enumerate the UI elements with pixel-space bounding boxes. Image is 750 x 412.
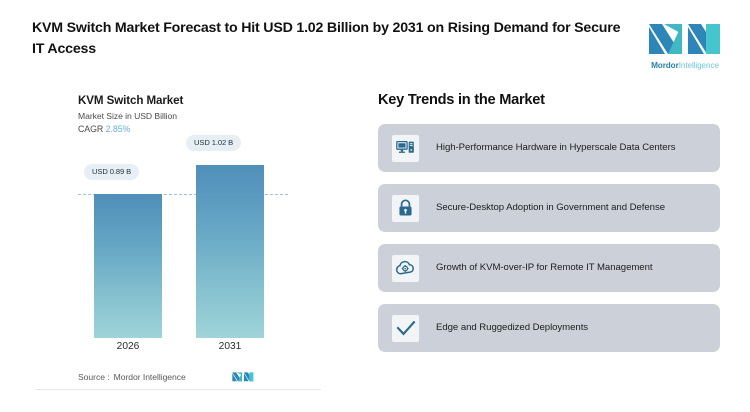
cagr-value: 2.85% [106,124,131,134]
chart-subtitle: Market Size in USD Billion [78,111,321,121]
trend-item-hardware[interactable]: High-Performance Hardware in Hyperscale … [378,124,720,172]
mordor-intelligence-logo-icon [648,20,722,56]
lock-icon [392,195,419,222]
checkmark-icon [392,315,419,342]
chart-cagr: CAGR 2.85% [78,124,321,134]
chart-source-row: Source : Mordor Intelligence [36,364,321,390]
trend-item-secure-desktop[interactable]: Secure-Desktop Adoption in Government an… [378,184,720,232]
x-axis-labels: 2026 2031 [36,341,321,359]
key-trends-panel: Key Trends in the Market High-Performanc… [378,92,720,364]
x-tick-2026: 2026 [94,341,162,352]
desktop-computer-icon [392,135,419,162]
trend-item-kvm-over-ip[interactable]: Growth of KVM-over-IP for Remote IT Mana… [378,244,720,292]
bar-2031 [196,165,264,338]
bar-value-label-2031: USD 1.02 B [186,135,241,151]
brand-word-bold: Mordor [651,61,679,70]
chart-card: KVM Switch Market Market Size in USD Bil… [36,86,321,376]
trend-label: Edge and Ruggedized Deployments [436,321,588,335]
bar-value-label-2026: USD 0.89 B [84,164,139,180]
trend-label: Growth of KVM-over-IP for Remote IT Mana… [436,261,653,275]
cagr-label: CAGR [78,124,103,134]
chart-header: KVM Switch Market Market Size in USD Bil… [36,86,321,134]
page-title: KVM Switch Market Forecast to Hit USD 1.… [32,18,622,59]
trend-item-edge-deployments[interactable]: Edge and Ruggedized Deployments [378,304,720,352]
source-logo-icon [232,370,254,383]
x-tick-2031: 2031 [196,341,264,352]
source-label: Source : [78,372,110,382]
brand-word-light: Intelligence [679,61,719,70]
trend-label: Secure-Desktop Adoption in Government an… [436,201,665,215]
bar-2026 [94,194,162,338]
brand-wordmark: MordorIntelligence [651,61,719,70]
bar-chart-plot: USD 0.89 B USD 1.02 B [36,148,321,338]
trend-label: High-Performance Hardware in Hyperscale … [436,141,675,155]
trends-title: Key Trends in the Market [378,92,720,108]
source-name: Mordor Intelligence [114,372,186,382]
brand-logo: MordorIntelligence [648,20,722,70]
header: KVM Switch Market Forecast to Hit USD 1.… [0,0,750,78]
cloud-settings-icon [392,255,419,282]
infographic-page: KVM Switch Market Forecast to Hit USD 1.… [0,0,750,412]
chart-title: KVM Switch Market [78,94,321,107]
